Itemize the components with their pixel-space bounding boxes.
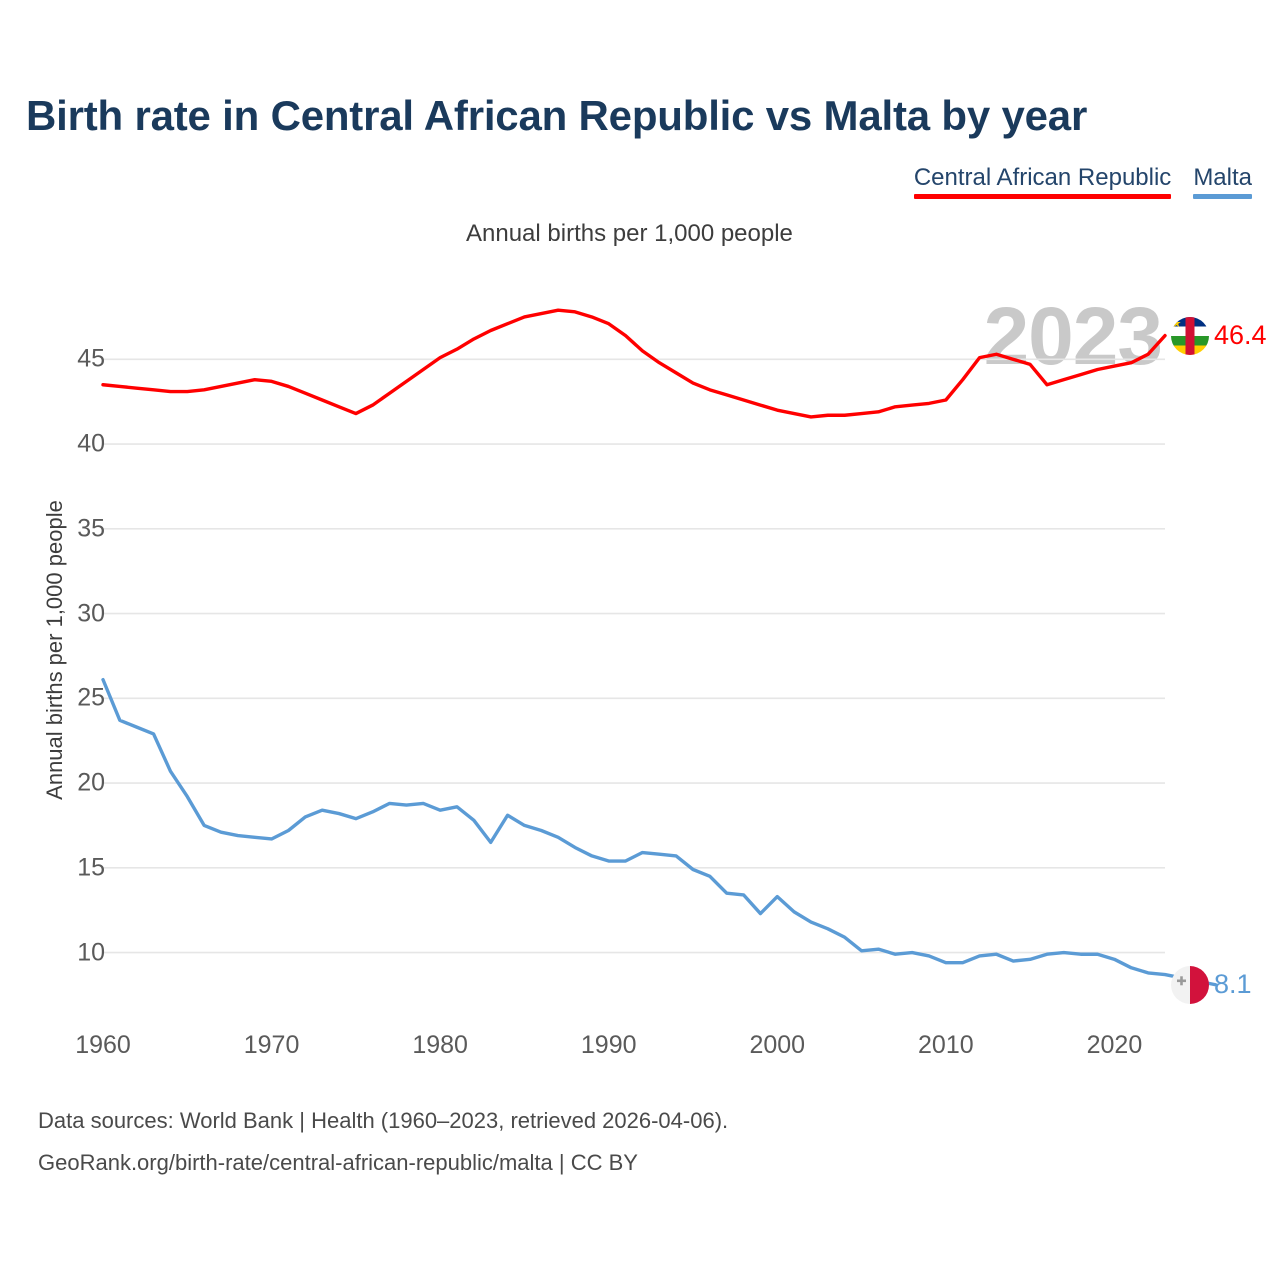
series-line [103, 310, 1165, 417]
central-african-republic-flag-icon [1171, 317, 1209, 355]
y-axis-tick-label: 45 [35, 345, 105, 374]
y-axis-tick-label: 10 [35, 938, 105, 967]
series-lines [103, 310, 1216, 985]
x-axis-tick-label: 1960 [48, 1031, 158, 1060]
end-label-malta: 8.1 [1171, 966, 1252, 1004]
gridlines [103, 359, 1165, 952]
x-axis-tick-label: 1970 [217, 1031, 327, 1060]
y-axis-tick-label: 20 [35, 769, 105, 798]
x-axis-tick-label: 2010 [891, 1031, 1001, 1060]
footer-attribution: GeoRank.org/birth-rate/central-african-r… [38, 1150, 638, 1176]
chart-plot-area [0, 0, 1280, 1280]
y-axis-tick-label: 15 [35, 853, 105, 882]
end-label-central-african-republic: 46.4 [1171, 317, 1267, 355]
y-axis-tick-label: 25 [35, 684, 105, 713]
y-axis-tick-label: 30 [35, 599, 105, 628]
x-axis-tick-label: 1980 [385, 1031, 495, 1060]
x-axis-tick-label: 1990 [554, 1031, 664, 1060]
end-value-central-african-republic: 46.4 [1214, 320, 1267, 351]
y-axis-tick-label: 35 [35, 514, 105, 543]
end-value-malta: 8.1 [1214, 969, 1252, 1000]
x-axis-tick-label: 2020 [1059, 1031, 1169, 1060]
series-line [103, 680, 1216, 985]
malta-flag-icon [1171, 966, 1209, 1004]
chart-page: Birth rate in Central African Republic v… [0, 0, 1280, 1280]
footer-data-sources: Data sources: World Bank | Health (1960–… [38, 1108, 728, 1134]
x-axis-tick-label: 2000 [722, 1031, 832, 1060]
y-axis-tick-label: 40 [35, 430, 105, 459]
